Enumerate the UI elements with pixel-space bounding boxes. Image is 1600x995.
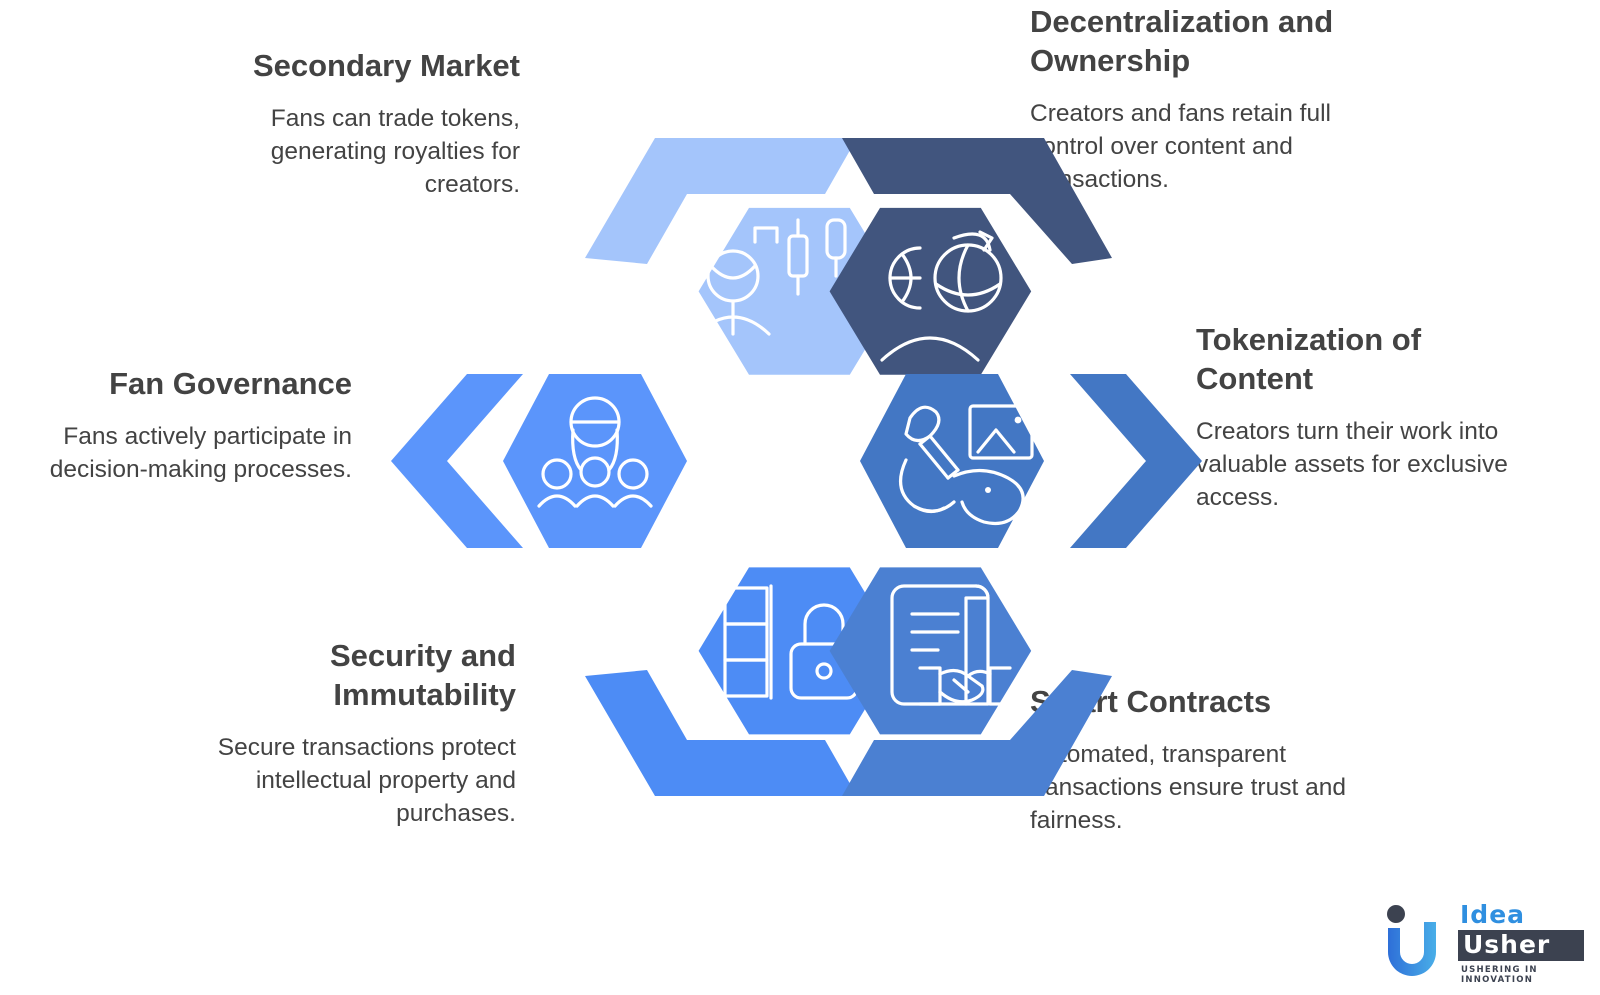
node-description-fan-governance: Fans actively participate in decision-ma… — [0, 421, 352, 487]
logo-tagline: USHERING IN INNOVATION — [1461, 965, 1584, 985]
hexagon-shape-fan-governance — [503, 374, 687, 548]
node-title-secondary-market: Secondary Market — [140, 46, 520, 85]
node-description-tokenization-of-content: Creators turn their work into valuable a… — [1196, 416, 1586, 514]
idea-usher-mark-icon — [1384, 902, 1450, 978]
node-label-fan-governance: Fan Governance Fans actively participate… — [0, 364, 352, 487]
node-title-decentralization-and-ownership: Decentralization and Ownership — [1030, 2, 1430, 80]
infographic-canvas: Secondary Market Fans can trade tokens, … — [0, 0, 1600, 995]
logo-idea-text: Idea — [1460, 902, 1584, 927]
hexagon-shape-decentralization — [830, 208, 1032, 375]
hexagon-cluster — [395, 128, 1155, 818]
chevron-accent-tokenization — [1070, 374, 1202, 548]
node-label-tokenization-of-content: Tokenization of Content Creators turn th… — [1196, 320, 1586, 515]
node-title-tokenization-of-content: Tokenization of Content — [1196, 320, 1586, 398]
brand-logo: Idea Usher USHERING IN INNOVATION — [1384, 896, 1584, 982]
logo-usher-box: Usher — [1458, 930, 1584, 961]
node-title-fan-governance: Fan Governance — [0, 364, 352, 403]
logo-usher-text: Usher — [1463, 930, 1550, 959]
